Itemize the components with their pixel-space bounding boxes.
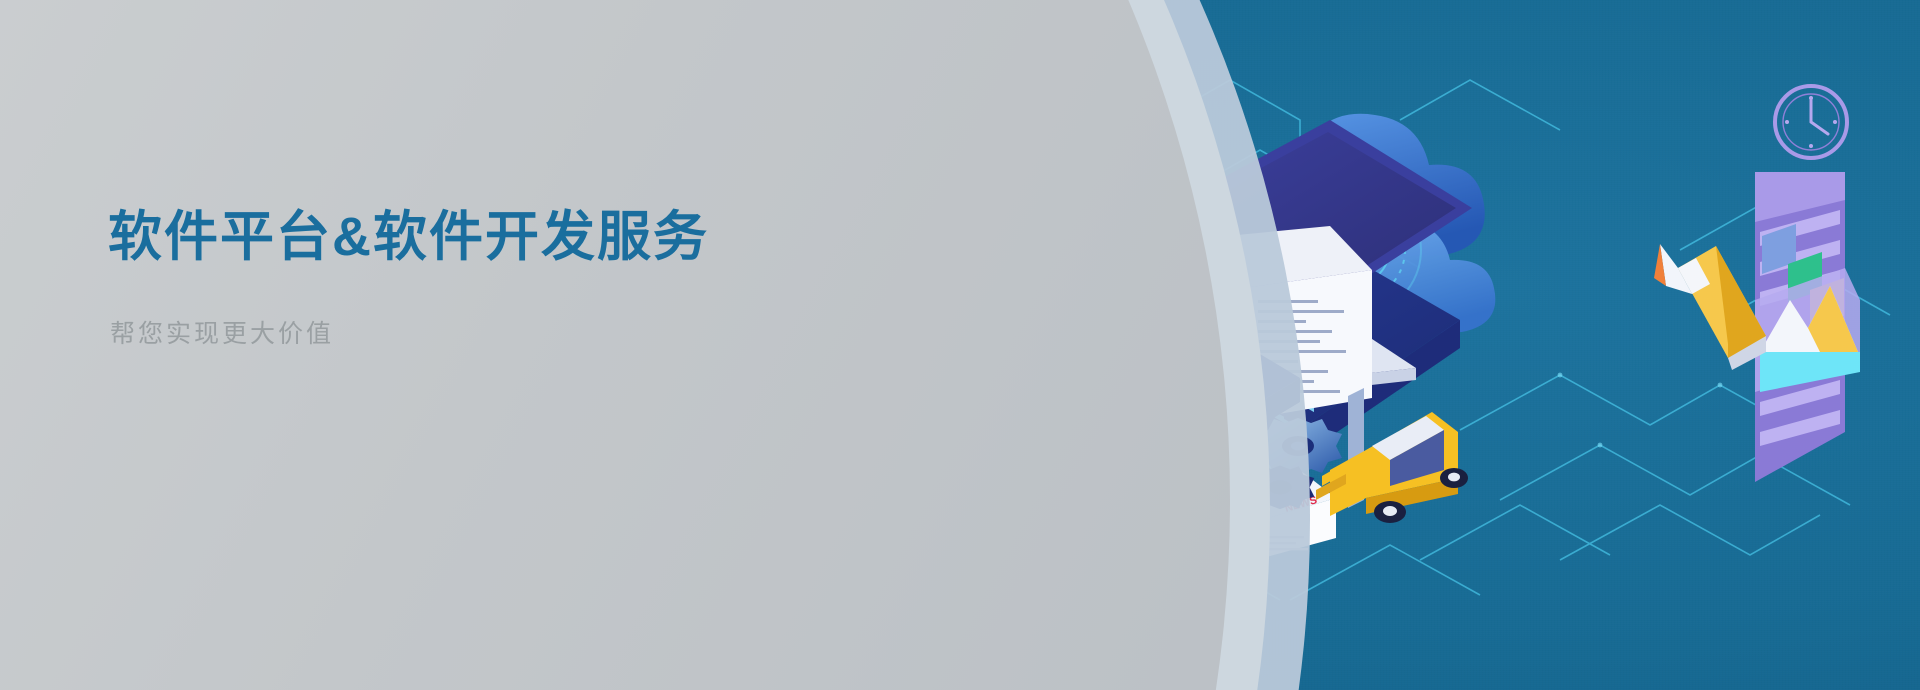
page-subtitle: 帮您实现更大价值 [110, 314, 868, 350]
hero-banner: NEWS [0, 0, 1920, 690]
wall-clock-icon [1775, 86, 1847, 158]
page-title: 软件平台&软件开发服务 [108, 206, 868, 270]
hero-copy: 软件平台&软件开发服务 帮您实现更大价值 [108, 206, 868, 350]
pencil-icon [1654, 244, 1766, 370]
